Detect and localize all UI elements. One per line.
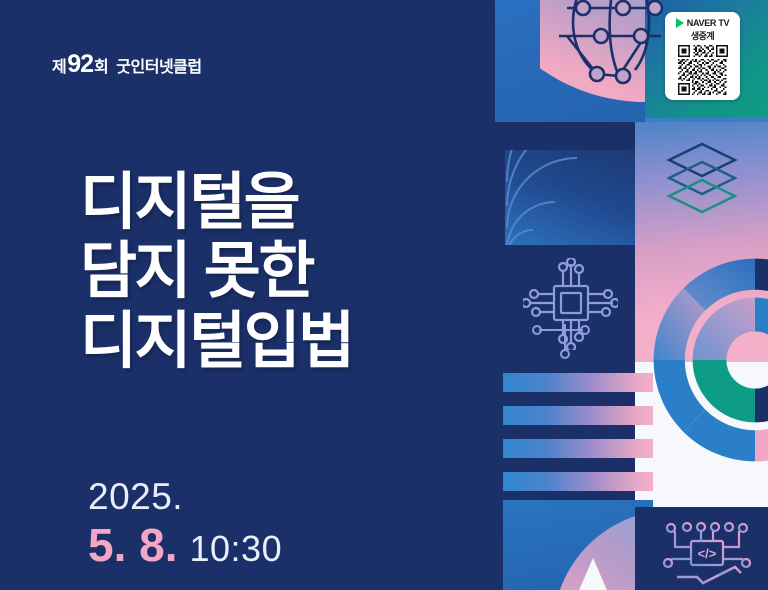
kicker-prefix: 제 — [52, 53, 66, 77]
kicker-number: 92 — [67, 50, 93, 79]
naver-tv-label: NAVER TV — [687, 18, 729, 28]
headline-line-3: 디지털입법 — [80, 307, 353, 376]
navy-panel-code: </> — [635, 507, 768, 590]
headline-line-2: 담지 못한 — [80, 237, 353, 306]
page-title: 디지털을 담지 못한 디지털입법 — [80, 168, 353, 376]
headline-line-1: 디지털을 — [80, 168, 353, 237]
event-day: 5. 8. — [88, 522, 178, 568]
wifi-arcs-icon — [505, 150, 635, 245]
blue-panel-bottom — [503, 500, 653, 590]
code-brackets-icon: </> — [657, 517, 757, 590]
naver-tv-live-badge[interactable]: NAVER TV 생중계 — [665, 12, 740, 100]
code-brackets-label: </> — [698, 546, 717, 561]
circuit-node-icon — [531, 320, 601, 380]
event-poster: 제92회굿인터넷클럽 디지털을 담지 못한 디지털입법 2025. 5. 8. … — [0, 0, 768, 590]
event-year: 2025. — [88, 478, 282, 515]
kicker-line: 제92회굿인터넷클럽 — [52, 50, 202, 79]
live-status-label: 생중계 — [691, 29, 714, 42]
play-triangle-icon — [676, 18, 684, 28]
kicker-suffix: 회 — [94, 53, 108, 77]
kicker-organization: 굿인터넷클럽 — [116, 53, 201, 77]
wifi-arcs-panel — [505, 150, 635, 245]
donut-chart-decoration — [625, 230, 768, 490]
decorative-graphics-panel: </> NAVER TV 생중계 — [495, 0, 768, 590]
qr-code[interactable] — [674, 45, 732, 95]
naver-tv-brand-row: NAVER TV — [676, 18, 729, 28]
event-datetime: 2025. 5. 8. 10:30 — [88, 478, 282, 568]
layers-stack-icon — [663, 140, 741, 220]
event-time: 10:30 — [190, 531, 283, 567]
globe-network-icon — [557, 0, 667, 98]
